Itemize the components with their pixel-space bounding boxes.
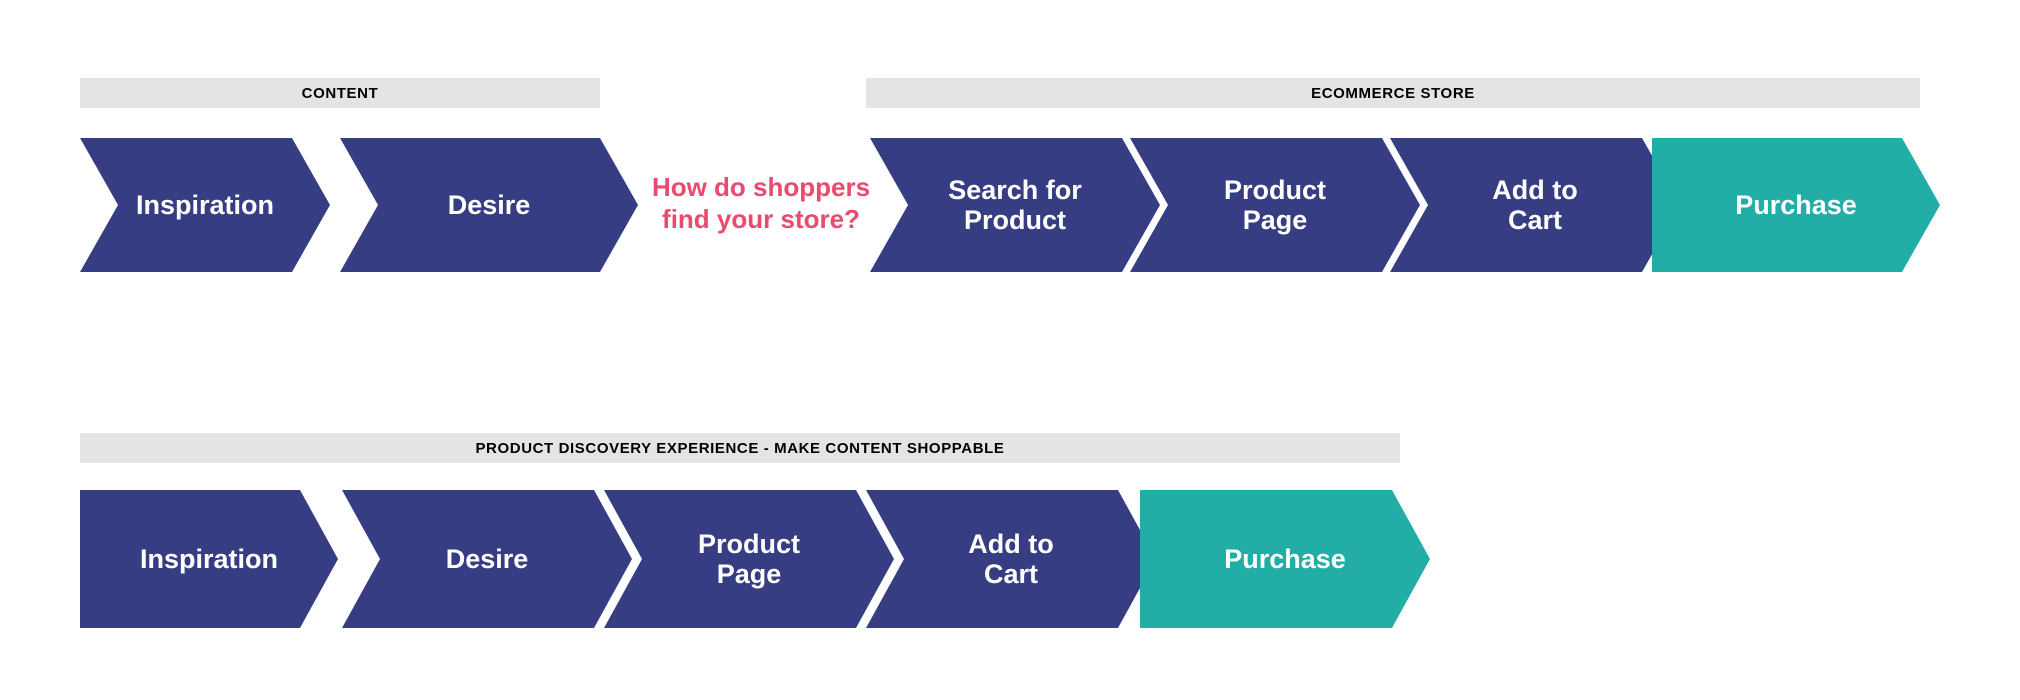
flow-top-step-desire[interactable]: Desire xyxy=(340,138,638,272)
flow-top-step-product-page-label: Product Page xyxy=(1218,175,1332,235)
section-band-content: CONTENT xyxy=(80,78,600,108)
flow-bottom-step-inspiration[interactable]: Inspiration xyxy=(80,490,338,628)
flow-top-step-desire-label: Desire xyxy=(442,190,537,220)
flow-bottom-step-add-to-cart[interactable]: Add to Cart xyxy=(866,490,1156,628)
flow-bottom-step-desire[interactable]: Desire xyxy=(342,490,632,628)
flow-top-step-search-for-product[interactable]: Search for Product xyxy=(870,138,1160,272)
flow-bottom-step-add-to-cart-label: Add to Cart xyxy=(962,529,1059,589)
flow-bottom-step-desire-label: Desire xyxy=(440,544,535,574)
shopper-discovery-question: How do shoppers find your store? xyxy=(646,172,876,235)
flow-top-step-inspiration[interactable]: Inspiration xyxy=(80,138,330,272)
flow-top-step-inspiration-label: Inspiration xyxy=(130,190,280,220)
section-band-product-discovery-experience: PRODUCT DISCOVERY EXPERIENCE - MAKE CONT… xyxy=(80,433,1400,463)
diagram-canvas: CONTENT ECOMMERCE STORE Inspiration Desi… xyxy=(0,0,2020,700)
flow-bottom-step-purchase[interactable]: Purchase xyxy=(1140,490,1430,628)
flow-top-step-add-to-cart-label: Add to Cart xyxy=(1486,175,1583,235)
section-band-content-label: CONTENT xyxy=(302,85,379,102)
flow-bottom-step-inspiration-label: Inspiration xyxy=(134,544,284,574)
flow-top-step-search-for-product-label: Search for Product xyxy=(942,175,1088,235)
section-band-ecommerce-store-label: ECOMMERCE STORE xyxy=(1311,85,1475,102)
section-band-ecommerce-store: ECOMMERCE STORE xyxy=(866,78,1920,108)
flow-top-step-purchase[interactable]: Purchase xyxy=(1652,138,1940,272)
section-band-product-discovery-experience-label: PRODUCT DISCOVERY EXPERIENCE - MAKE CONT… xyxy=(475,440,1004,457)
flow-bottom-step-product-page[interactable]: Product Page xyxy=(604,490,894,628)
flow-top-step-purchase-label: Purchase xyxy=(1729,190,1863,220)
flow-top-step-product-page[interactable]: Product Page xyxy=(1130,138,1420,272)
flow-top-step-add-to-cart[interactable]: Add to Cart xyxy=(1390,138,1680,272)
flow-bottom-step-product-page-label: Product Page xyxy=(692,529,806,589)
flow-bottom-step-purchase-label: Purchase xyxy=(1218,544,1352,574)
